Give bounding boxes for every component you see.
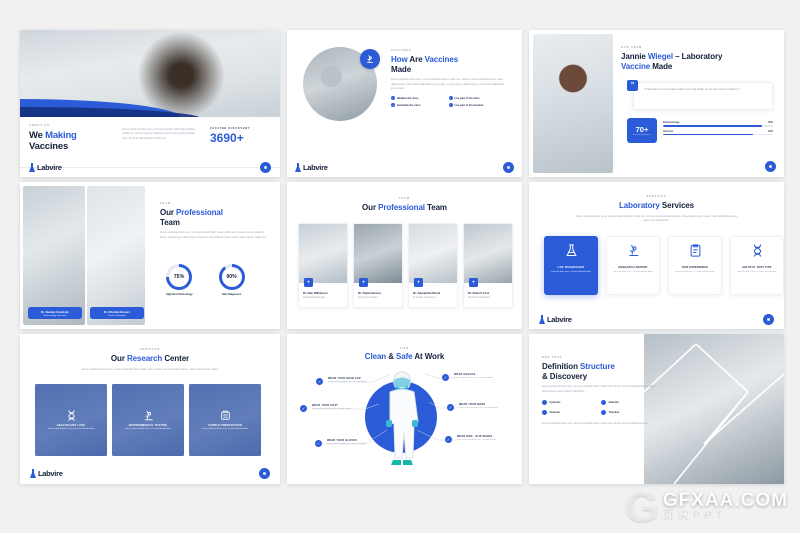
clipboard-icon	[688, 243, 703, 258]
checklist-item[interactable]: ✓Use part of the bacteria	[449, 103, 507, 107]
title-part-1: How	[391, 55, 409, 64]
watermark: G GFXAA.COM 页尖PPT	[625, 489, 788, 525]
brand-logo[interactable]: Labvire	[29, 163, 62, 172]
title-part-1: Definition	[542, 362, 580, 371]
body-text: Fusce vehicula dolor arcu, sit amet blan…	[542, 385, 660, 394]
quote-icon: ”	[627, 80, 638, 91]
slide-how-are-vaccines-made[interactable]: VACCINES How Are Vaccines Made Fusce veh…	[287, 30, 522, 177]
title-part-2: & Discovery	[542, 372, 587, 381]
slide-grid: ABOUT US We Making Vaccines Fusce vehicu…	[20, 30, 784, 493]
team-card[interactable]: + Dr. Robert Cruz Head Of Laboratory	[463, 223, 513, 308]
check-icon: ✓	[442, 374, 449, 381]
cover-body-text: Fusce vehicula dolor arcu, sit amet blan…	[122, 128, 200, 141]
tip-title: WEAR GOGGLE	[454, 373, 504, 376]
dna-base-item[interactable]: Adenine	[601, 400, 660, 405]
eyebrow: TEAM	[287, 197, 522, 200]
stat-value: 3690+	[210, 132, 272, 144]
member-role: Equity Consultant	[358, 296, 398, 299]
eyebrow: DNA TEST	[542, 356, 660, 359]
dna-icon	[750, 243, 765, 258]
checklist-label: Use part of the virus	[455, 97, 480, 100]
research-card-environmental-testing[interactable]: ENVIRONMENTAL TESTING Fusce vehicula dol…	[112, 384, 184, 456]
check-icon: ✓	[447, 404, 454, 411]
skill-name: Biotechnology	[663, 121, 680, 124]
title-accent: Structure	[580, 362, 615, 371]
tip-title: WEAR YOUR COAT	[312, 404, 356, 407]
check-icon: ✓	[316, 378, 323, 385]
dna-base-label: Guanine	[550, 411, 560, 414]
dna-base-label: Adenine	[609, 401, 619, 404]
brand-logo[interactable]: Labvire	[295, 163, 328, 172]
skill-row: Vaccines 82%	[663, 130, 773, 136]
member-name-card-1[interactable]: Dr. Stanley Kaninsky Biotecnology Specia…	[28, 307, 82, 319]
skill-row: Biotechnology 90%	[663, 121, 773, 127]
brand-name: Labvire	[37, 163, 62, 172]
tip-title: WEAR YOUR MASK	[459, 403, 509, 406]
research-card-sample-preparation[interactable]: SAMPLE PREPARATION Fusce vehicula dolor …	[189, 384, 261, 456]
next-slide-button[interactable]	[259, 468, 270, 479]
member-photo	[409, 224, 457, 283]
skill-value: 90%	[768, 121, 773, 124]
skill-value: 82%	[768, 130, 773, 133]
donut-chart-1: 75%	[166, 264, 192, 290]
title-part-2: Team	[425, 203, 447, 212]
brand-name: Labvire	[547, 315, 572, 324]
tip-title: WEAR YOUR GLOVES	[327, 439, 371, 442]
next-slide-button[interactable]	[503, 162, 514, 173]
tip-desc: Fusce vehicula dolor arcu, sit amet blan…	[454, 377, 504, 380]
title-part-3-accent: Vaccine	[621, 62, 650, 71]
watermark-logo: G	[625, 489, 659, 525]
stat-label: High-End Technology	[166, 293, 193, 296]
service-card-lab-technicians[interactable]: LAB TECHNICIANS vehicula dolor arcu, sit…	[544, 236, 598, 295]
title-accent: Research	[127, 354, 162, 363]
title-part-1: Our	[160, 208, 176, 217]
service-desc: vehicula dolor arcu, sit amet blandit do…	[672, 271, 718, 274]
flask-icon	[29, 163, 35, 172]
microscope-photo-wrap	[303, 47, 377, 121]
title-accent: Professional	[176, 208, 223, 217]
title-part-2: Vaccines	[29, 141, 68, 152]
skill-name: Vaccines	[663, 130, 673, 133]
dna-base-item[interactable]: Thymine	[601, 410, 660, 415]
sample-icon	[219, 409, 232, 422]
check-icon: ✓	[449, 96, 453, 100]
service-desc: vehicula dolor arcu, sit amet blandit do…	[548, 271, 594, 274]
title-accent: Making	[45, 130, 77, 141]
microscope-icon	[626, 243, 641, 258]
experience-label: EXPERIENCE	[633, 134, 651, 136]
member-name: Dr. Dan Wilkinson	[303, 291, 343, 295]
research-card-healthcare-labs[interactable]: HEALTHCARE LABS Fusce vehicula dolor arc…	[35, 384, 107, 456]
slide-professional-team-grid[interactable]: TEAM Our Professional Team + Dr. Dan Wil…	[287, 182, 522, 329]
title-part-2: Made	[391, 65, 411, 74]
title-part-2: – Laboratory	[673, 52, 722, 61]
title-dark: Are	[409, 55, 424, 64]
stat-label: Safe Diagnoses	[219, 293, 245, 296]
tip-title: WEAR YOUR HEAD CAP	[328, 377, 372, 380]
title-part-2: Center	[162, 354, 189, 363]
tip-title: WEAR NON - SLIP SHOES	[457, 435, 509, 438]
check-icon: ✓	[449, 103, 453, 107]
service-desc: vehicula dolor arcu, sit amet blandit do…	[734, 271, 780, 274]
service-card-our-experience[interactable]: OUR EXPERIENCE vehicula dolor arcu, sit …	[668, 236, 722, 295]
title-part-1: Our	[111, 354, 127, 363]
eyebrow: OUR TEAM	[621, 46, 773, 49]
tip-desc: Fusce vehicula dolor arcu, sit amet blan…	[312, 408, 356, 411]
plus-icon[interactable]: +	[304, 278, 313, 287]
member-role: Head Microbiologist	[303, 296, 343, 299]
checklist-label: Weaken the virus	[397, 97, 418, 100]
flask-icon	[564, 243, 579, 258]
service-title: LAB TECHNICIANS	[548, 266, 594, 269]
dna-base-label: Cytosine	[550, 401, 561, 404]
checklist-label: Inactivate the virus	[397, 104, 421, 107]
member-photo	[354, 224, 402, 283]
card-desc: Fusce vehicula dolor arcu, sit amet blan…	[48, 428, 94, 431]
check-icon: ✓	[445, 436, 452, 443]
card-desc: Fusce vehicula dolor arcu, sit amet blan…	[125, 428, 171, 431]
check-icon: ✓	[315, 440, 322, 447]
checklist-label: Use part of the bacteria	[455, 104, 484, 107]
member-photo-1	[23, 186, 85, 325]
stat-value: 90%	[222, 267, 242, 287]
member-photo	[299, 224, 347, 283]
eyebrow: SERVICES	[529, 195, 784, 198]
quote-text: "A laboratory is only a place where one …	[634, 83, 772, 92]
cover-photo	[20, 30, 280, 117]
dna-icon	[65, 409, 78, 422]
quote-card: "A laboratory is only a place where one …	[633, 82, 773, 110]
brand-logo[interactable]: Labvire	[30, 469, 63, 478]
stat-value: 75%	[169, 267, 189, 287]
service-desc: vehicula dolor arcu, sit amet blandit do…	[610, 271, 656, 274]
eyebrow: SERVICES	[20, 348, 280, 351]
title-accent: Professional	[378, 203, 425, 212]
title-part-3: Made	[650, 62, 672, 71]
dna-base-label: Thymine	[609, 411, 620, 414]
member-role: Biotecnology Specialist	[29, 315, 81, 317]
bullet-icon	[601, 410, 606, 415]
team-card[interactable]: + Dr. Dwid Hanson Equity Consultant	[353, 223, 403, 308]
member-name-card-2[interactable]: Dr. Chyntia Romero Senior Pathologist	[90, 307, 144, 319]
team-card[interactable]: + Dr. Samantha Wood Financial Consultant	[408, 223, 458, 308]
skill-fill	[663, 134, 753, 136]
title-part-2: Team	[160, 218, 180, 227]
donut-chart-2: 90%	[219, 264, 245, 290]
skill-track	[663, 134, 773, 136]
brand-logo[interactable]: Labvire	[539, 315, 572, 324]
member-photo	[533, 34, 613, 173]
member-role: Financial Consultant	[413, 296, 453, 299]
member-role: Head Of Laboratory	[468, 296, 508, 299]
flask-icon	[295, 163, 301, 172]
member-photo	[464, 224, 512, 283]
brand-name: Labvire	[303, 163, 328, 172]
checklist-item[interactable]: ✓Inactivate the virus	[391, 103, 449, 107]
member-role: Senior Pathologist	[91, 315, 143, 317]
brand-name: Labvire	[38, 469, 63, 478]
card-title: ENVIRONMENTAL TESTING	[129, 424, 168, 427]
body-text: Fusce vehicula dolor arcu, sit amet blan…	[59, 368, 241, 372]
tip-desc: Fusce vehicula dolor arcu, sit amet blan…	[328, 381, 372, 384]
service-title: HELPFUL TEST TIPS	[734, 266, 780, 269]
slide-definition-structure-discovery[interactable]: DNA TEST Definition Structure & Discover…	[529, 334, 784, 484]
member-name: Dr. Chyntia Romero	[91, 310, 143, 314]
card-title: HEALTHCARE LABS	[57, 424, 85, 427]
title-dark: Services	[662, 201, 694, 210]
tip-desc: Fusce vehicula dolor arcu, sit amet blan…	[327, 443, 371, 446]
title-part-1: We	[29, 130, 45, 141]
eyebrow: VACCINES	[391, 49, 506, 52]
next-slide-button[interactable]	[765, 161, 776, 172]
next-slide-button[interactable]	[763, 314, 774, 325]
checklist-item[interactable]: ✓Use part of the virus	[449, 96, 507, 100]
slide-professional-team-duo[interactable]: Dr. Stanley Kaninsky Biotecnology Specia…	[20, 182, 280, 329]
bullet-icon	[601, 400, 606, 405]
service-card-research-center[interactable]: RESEARCH CENTER vehicula dolor arcu, sit…	[606, 236, 660, 295]
stat-block-2: 90% Safe Diagnoses	[219, 264, 245, 296]
slide-about-us-cover[interactable]: ABOUT US We Making Vaccines Fusce vehicu…	[20, 30, 280, 177]
member-photo-2	[87, 186, 145, 325]
title-part-1: Jannie	[621, 52, 648, 61]
title-part-1: Laboratory	[619, 201, 662, 210]
member-name: Dr. Stanley Kaninsky	[29, 310, 81, 314]
footer-text: Fusce vehicula dolor arcu, sit amet blan…	[542, 422, 660, 426]
card-title: SAMPLE PREPARATION	[208, 424, 242, 427]
bullet-icon	[542, 410, 547, 415]
slide-laboratory-services[interactable]: SERVICES Laboratory Services Fusce vehic…	[529, 182, 784, 329]
skill-fill	[663, 125, 762, 127]
experience-value: 70+	[636, 126, 649, 134]
watermark-sub: 页尖PPT	[663, 510, 788, 523]
next-slide-button[interactable]	[260, 162, 271, 173]
tip-desc: Fusce vehicula dolor arcu, sit amet blan…	[457, 439, 509, 442]
slide-our-research-center[interactable]: SERVICES Our Research Center Fusce vehic…	[20, 334, 280, 484]
member-name: Dr. Samantha Wood	[413, 291, 453, 295]
photo-shard-lines	[644, 334, 784, 484]
dna-base-item[interactable]: Cytosine	[542, 400, 601, 405]
cover-text-area: ABOUT US We Making Vaccines Fusce vehicu…	[20, 117, 280, 177]
check-icon: ✓	[391, 103, 395, 107]
eyebrow: TEAM	[160, 202, 272, 205]
microscope-icon	[142, 409, 155, 422]
body-text: Fusce vehicula dolor arcu, sit amet blan…	[574, 215, 740, 224]
bullet-icon	[542, 400, 547, 405]
flask-icon	[30, 469, 36, 478]
service-title: RESEARCH CENTER	[610, 266, 656, 269]
experience-badge: 70+ EXPERIENCE	[627, 118, 657, 143]
title-accent: Vaccines	[425, 55, 458, 64]
body-text: Fusce vehicula dolor arcu, sit amet blan…	[391, 78, 506, 91]
checklist-item[interactable]: ✓Weaken the virus	[391, 96, 449, 100]
card-desc: Fusce vehicula dolor arcu, sit amet blan…	[202, 428, 248, 431]
slide-team-member-profile[interactable]: OUR TEAM Jannie Wiegel – Laboratory Vacc…	[529, 30, 784, 177]
service-card-helpful-test-tips[interactable]: HELPFUL TEST TIPS vehicula dolor arcu, s…	[730, 236, 784, 295]
title-accent: Wiegel	[648, 52, 673, 61]
watermark-domain: GFXAA.COM	[663, 491, 788, 510]
slide-clean-and-safe-at-work[interactable]: TIPS Clean & Safe At Work	[287, 334, 522, 484]
tip-desc: Fusce vehicula dolor arcu, sit amet blan…	[459, 407, 509, 410]
plus-icon[interactable]: +	[414, 278, 423, 287]
skill-track	[663, 125, 773, 127]
plus-icon[interactable]: +	[359, 278, 368, 287]
flask-icon	[539, 315, 545, 324]
member-name: Dr. Dwid Hanson	[358, 291, 398, 295]
stat-block-1: 75% High-End Technology	[166, 264, 193, 296]
body-text: Fusce vehicula dolor arcu, sit amet blan…	[160, 231, 272, 240]
microscope-icon	[360, 49, 380, 69]
title-part-1: Our	[362, 203, 378, 212]
dna-base-item[interactable]: Guanine	[542, 410, 601, 415]
check-icon: ✓	[300, 405, 307, 412]
service-title: OUR EXPERIENCE	[672, 266, 718, 269]
eyebrow: ABOUT US	[29, 124, 113, 127]
plus-icon[interactable]: +	[469, 278, 478, 287]
screenshot-canvas: ABOUT US We Making Vaccines Fusce vehicu…	[0, 0, 800, 533]
check-icon: ✓	[391, 96, 395, 100]
member-name: Dr. Robert Cruz	[468, 291, 508, 295]
team-card[interactable]: + Dr. Dan Wilkinson Head Microbiologist	[298, 223, 348, 308]
stat-label: VACCINE DISCOVERY	[210, 127, 272, 130]
